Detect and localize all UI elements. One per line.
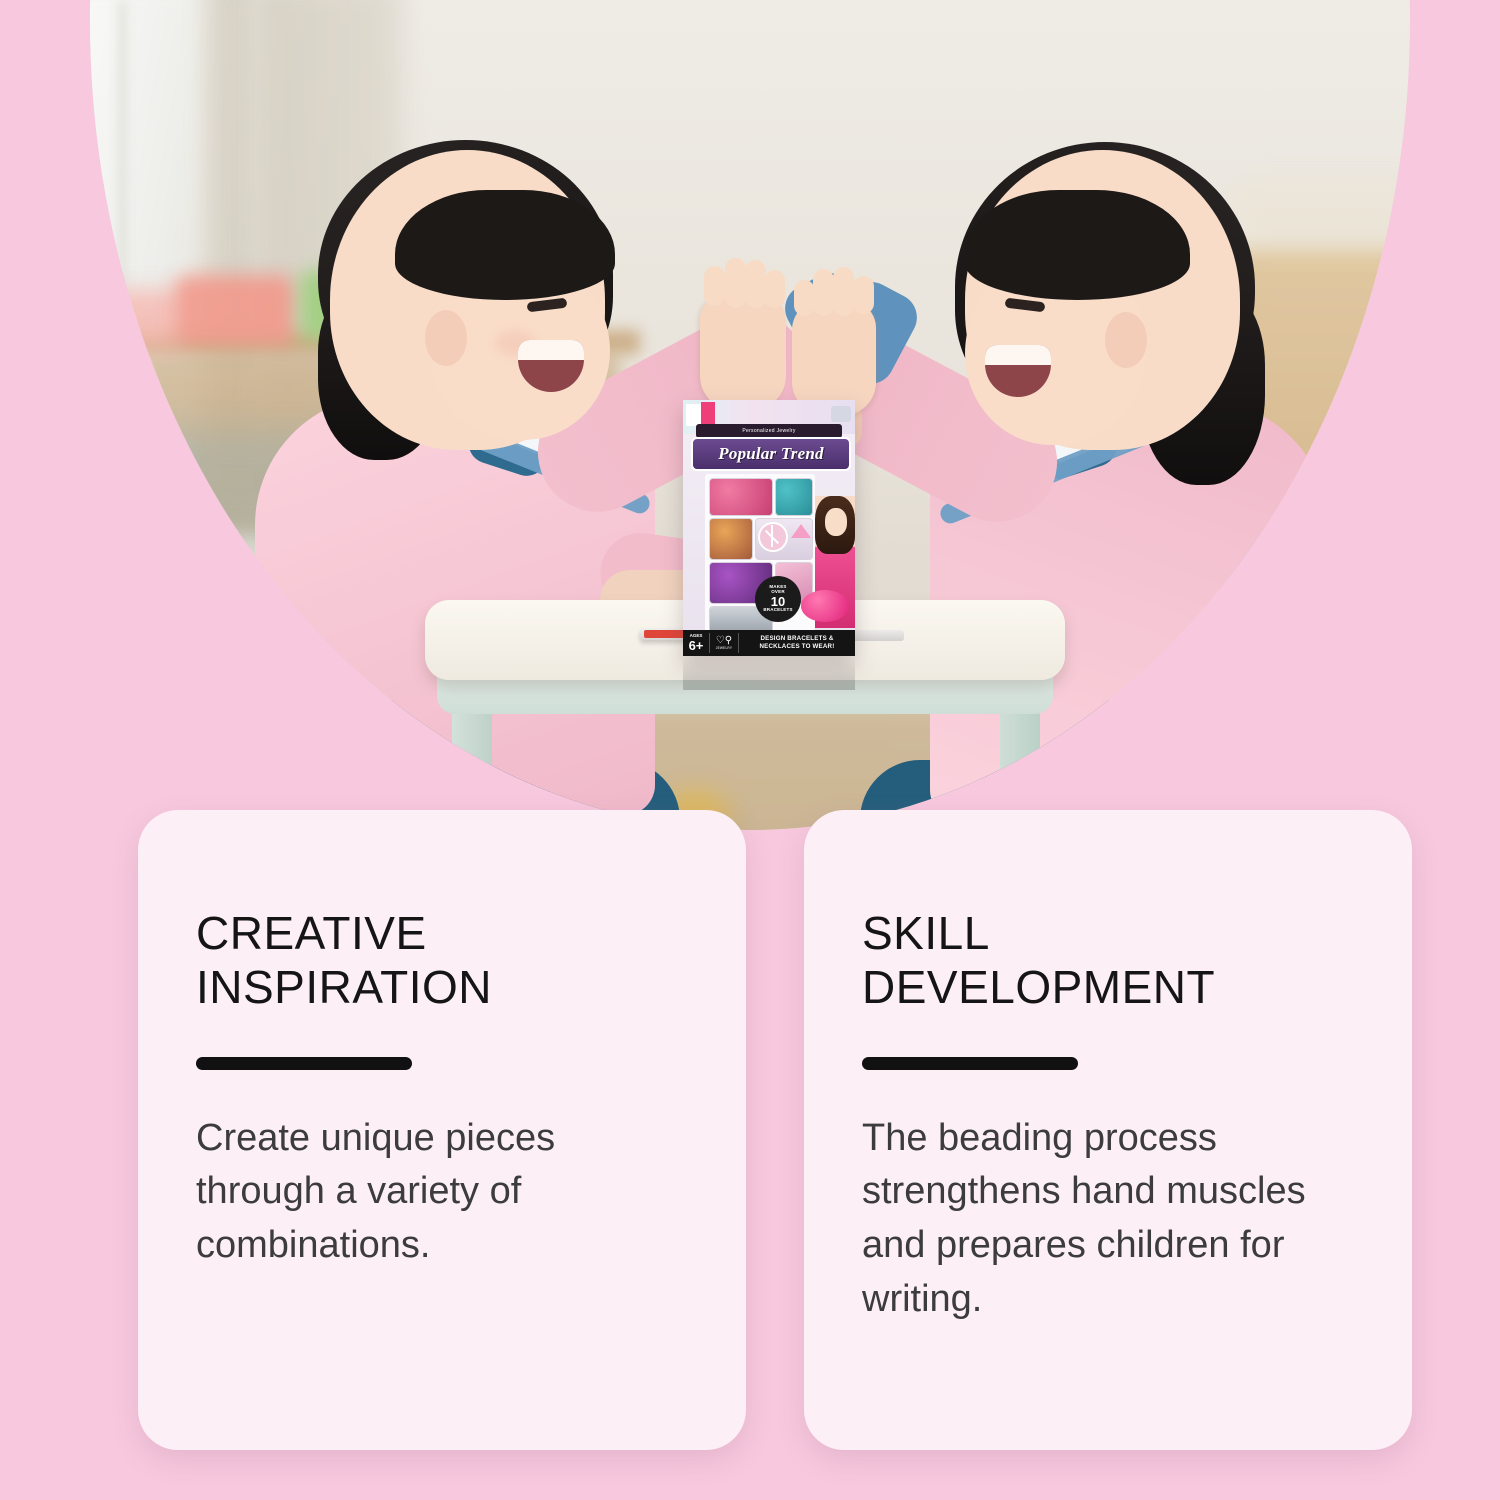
feature-card-heading: SKILL DEVELOPMENT [862,906,1354,1015]
jewelry-icon: ♡⚲ JEWELRY [710,636,738,650]
child-right-ear [1105,312,1147,368]
background-toy-blue [60,440,180,590]
child-right-teeth [985,345,1051,365]
star-charm-icon [791,524,811,538]
feature-card-creative-inspiration: CREATIVE INSPIRATION Create unique piece… [138,810,746,1450]
product-feature-banner: Personalized Jewelry Popular Trend [0,0,1500,1500]
bead-cell-teal [775,478,813,516]
product-box-reflection [683,656,855,690]
product-box-model-face [825,508,847,536]
chair-right [1285,575,1495,815]
feature-card-rule [196,1057,412,1070]
jewelry-glyph: ♡⚲ [716,636,732,646]
feature-card-body: Create unique pieces through a variety o… [196,1112,688,1274]
product-box-compliance-tag [686,404,702,426]
background-bench-yellow [1230,600,1500,710]
bead-cell-pink [709,478,773,516]
hero-photo: Personalized Jewelry Popular Trend [0,0,1500,900]
product-box-title-plate: Popular Trend [691,437,851,471]
product-box[interactable]: Personalized Jewelry Popular Trend [683,400,855,656]
product-box-sticker [831,406,851,422]
product-box-bottom-bar: AGES 6+ ♡⚲ JEWELRY DESIGN BRACELETS & NE… [683,630,855,656]
badge-line-3: BRACELETS [763,608,792,613]
product-box-description: DESIGN BRACELETS & NECKLACES TO WEAR! [739,635,855,651]
background-toy-orange [175,275,295,345]
product-box-title: Popular Trend [718,444,823,464]
feature-card-skill-development: SKILL DEVELOPMENT The beading process st… [804,810,1412,1450]
high-five-hand-right [792,300,876,416]
bead-cell-mixed [709,518,753,560]
window-mullion-icon [118,0,127,470]
background-bench-blue [1230,540,1500,610]
background-bench-grey [1430,430,1500,620]
makes-over-badge: MAKES OVER 10 BRACELETS [755,576,801,622]
child-left-bangs [395,190,615,300]
peace-sign-charm-icon [758,522,788,552]
feature-card-rule [862,1057,1078,1070]
age-value: 6+ [683,639,709,652]
feature-card-body: The beading process strengthens hand mus… [862,1112,1354,1328]
product-box-brand-line: Personalized Jewelry [742,429,795,434]
age-rating: AGES 6+ [683,634,709,652]
high-five-hand-left [700,292,786,410]
child-left-ear [425,310,467,366]
feature-card-heading: CREATIVE INSPIRATION [196,906,688,1015]
background-toy-pink [95,290,185,350]
child-right-bangs [965,190,1190,300]
badge-count: 10 [771,595,785,608]
jewelry-icon-label: JEWELRY [716,646,732,650]
product-box-brand-bar: Personalized Jewelry [696,424,842,438]
product-box-pink-oval-sticker [801,590,849,622]
child-left-teeth [518,340,584,360]
